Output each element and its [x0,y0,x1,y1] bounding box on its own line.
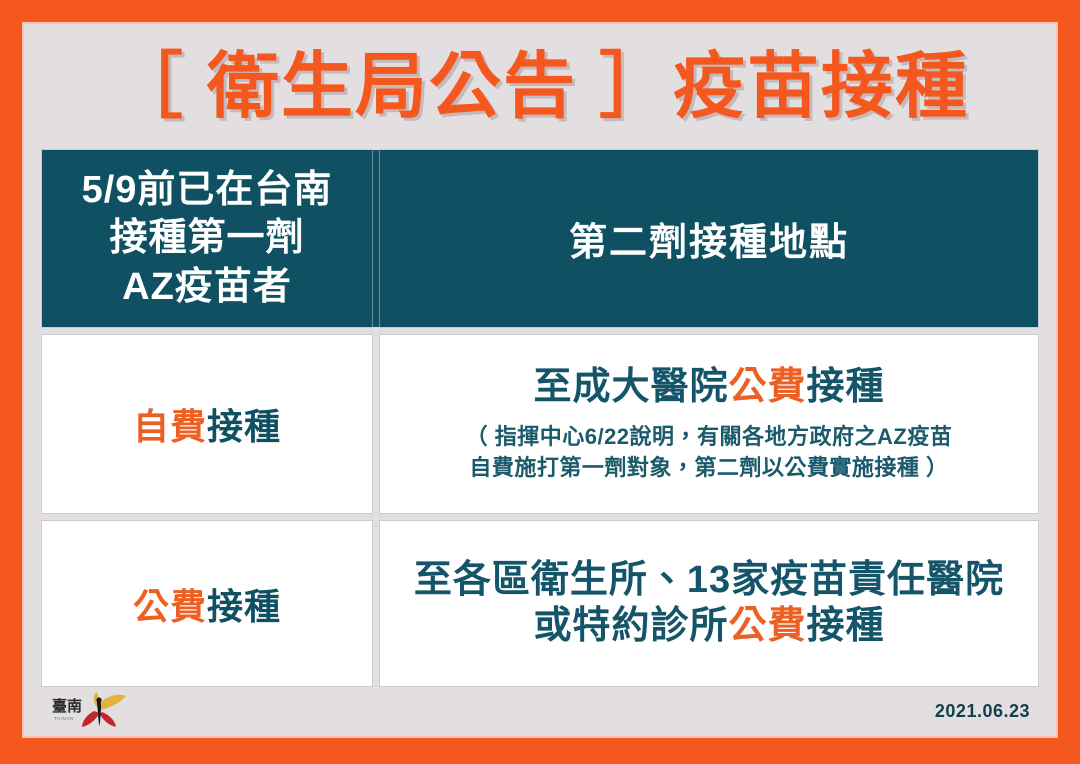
page-title: ［ 衛生局公告 ］疫苗接種 [111,51,969,123]
row-2-category-text: 公費接種 [133,578,281,630]
row-1-location-cell: 至成大醫院公費接種 （ 指揮中心6/22說明，有關各地方政府之AZ疫苗 自費施打… [380,335,1038,513]
row-1-location-part-b: 接種 [807,366,885,408]
header-condition-line-2: 接種第一劑 [109,214,304,262]
row-1-location-main: 至成大醫院公費接種 [533,365,884,411]
row-1-note: （ 指揮中心6/22說明，有關各地方政府之AZ疫苗 自費施打第一劑對象，第二劑以… [466,421,953,483]
header-condition-line-1: 5/9前已在台南 [82,166,333,214]
header-cell-condition: 5/9前已在台南 接種第一劑 AZ疫苗者 [42,150,372,327]
row-2-location-part-a: 或特約診所 [533,605,728,647]
row-2-location-highlight: 公費 [728,605,806,647]
row-1-category-cell: 自費接種 [42,335,372,513]
row-2-category-cell: 公費接種 [42,521,372,686]
row-1-category-highlight: 自費 [133,406,207,447]
row-1-note-line-1: （ 指揮中心6/22說明，有關各地方政府之AZ疫苗 [466,421,953,452]
poster-root: ［ 衛生局公告 ］疫苗接種 5/9前已在台南 接種第一劑 AZ疫苗者 第二劑接種… [0,0,1080,764]
row-1-location-part-a: 至成大醫院 [533,366,728,408]
row-1-category-rest: 接種 [207,406,281,447]
svg-text:臺南: 臺南 [52,697,82,715]
row-1-note-line-2: 自費施打第一劑對象，第二劑以公費實施接種 ） [466,452,953,483]
header-condition-text: 5/9前已在台南 接種第一劑 AZ疫苗者 [68,166,347,311]
row-2-location-line-2: 或特約診所公費接種 [533,604,884,650]
publish-date: 2021.06.23 [935,701,1030,722]
table-row: 自費接種 至成大醫院公費接種 （ 指揮中心6/22說明，有關各地方政府之AZ疫苗… [42,335,1038,513]
title-bar: ［ 衛生局公告 ］疫苗接種 [24,24,1056,150]
row-2-location-line-1: 至各區衛生所、13家疫苗責任醫院 [414,558,1004,604]
tainan-city-logo: 臺南 TAINAN [52,691,130,731]
vaccine-table: 5/9前已在台南 接種第一劑 AZ疫苗者 第二劑接種地點 自費接種 [42,150,1038,686]
footer-bar: 臺南 TAINAN 2021.06.23 [24,686,1056,736]
row-2-category-highlight: 公費 [133,586,207,627]
header-location-text: 第二劑接種地點 [569,211,849,266]
table-row: 公費接種 至各區衛生所、13家疫苗責任醫院 或特約診所公費接種 [42,521,1038,686]
row-1-location-highlight: 公費 [728,366,806,408]
header-cell-location: 第二劑接種地點 [380,150,1038,327]
svg-text:TAINAN: TAINAN [54,716,74,721]
header-condition-line-3: AZ疫苗者 [122,263,292,311]
row-1-category-text: 自費接種 [133,398,281,450]
row-2-category-rest: 接種 [207,586,281,627]
row-2-location-cell: 至各區衛生所、13家疫苗責任醫院 或特約診所公費接種 [380,521,1038,686]
tainan-butterfly-icon: 臺南 TAINAN [52,691,130,731]
poster-canvas: ［ 衛生局公告 ］疫苗接種 5/9前已在台南 接種第一劑 AZ疫苗者 第二劑接種… [22,22,1058,738]
table-header-row: 5/9前已在台南 接種第一劑 AZ疫苗者 第二劑接種地點 [42,150,1038,327]
row-2-location-part-b: 接種 [807,605,885,647]
